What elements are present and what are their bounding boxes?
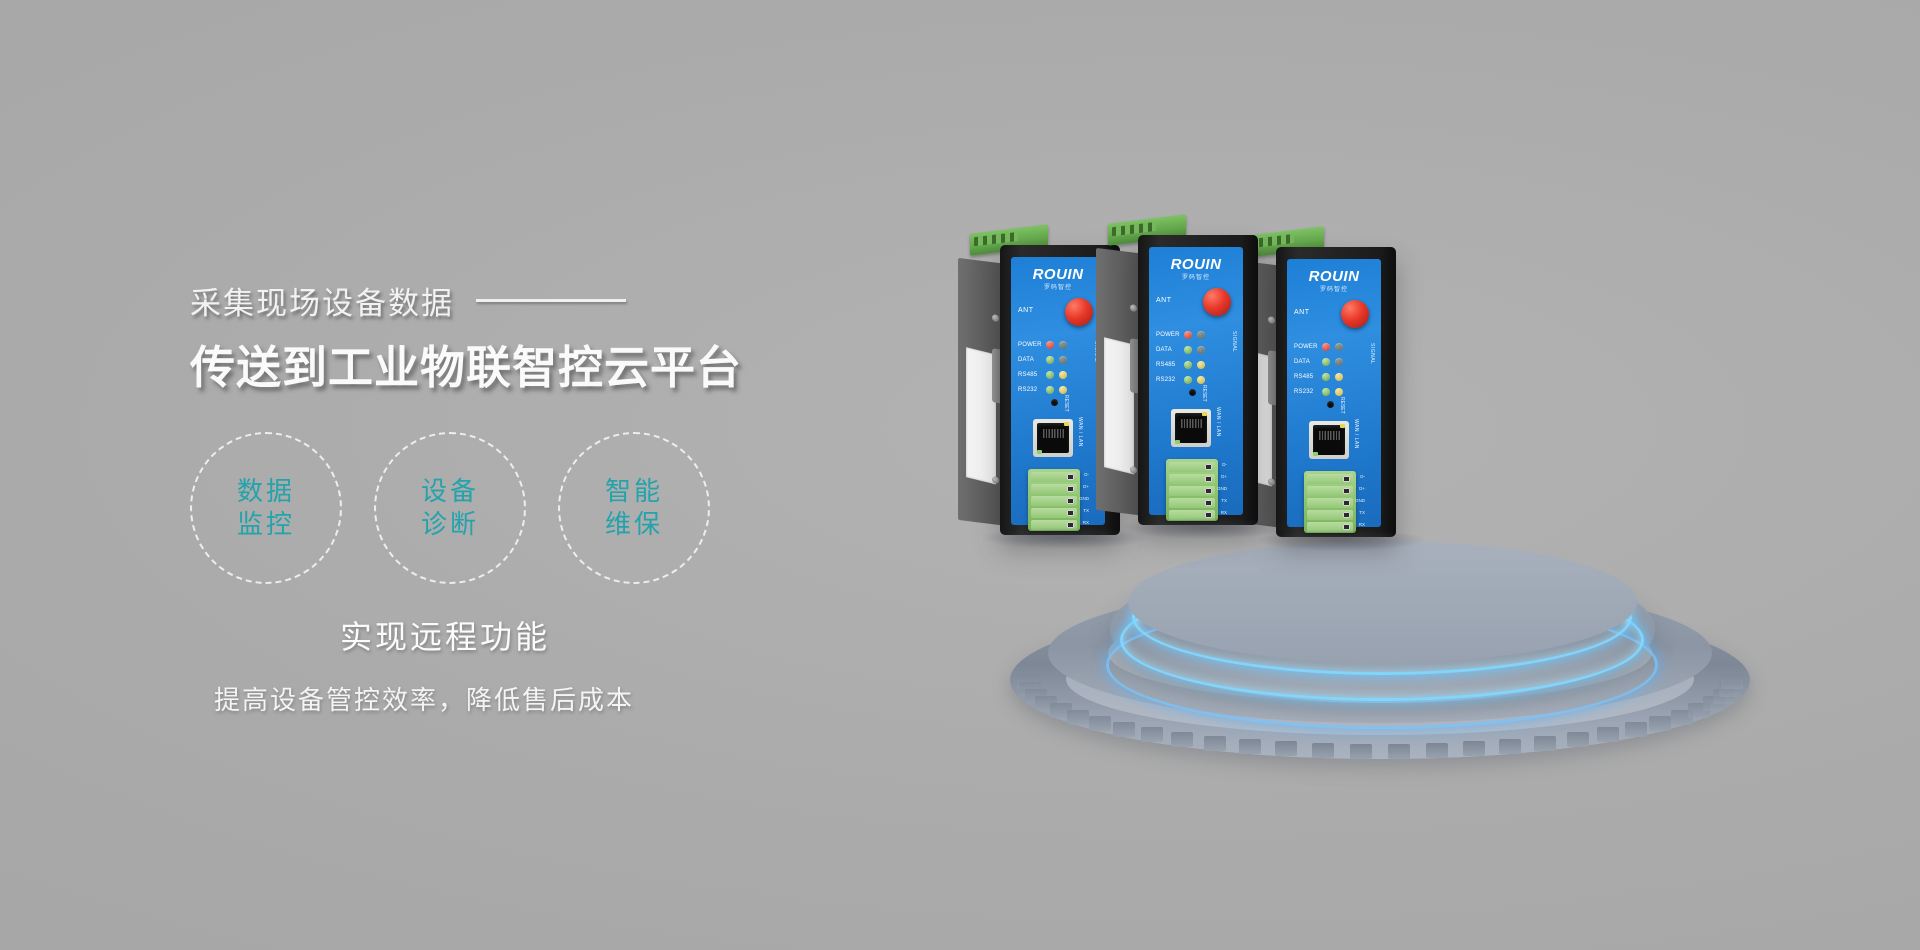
led-indicator: [1335, 343, 1343, 351]
feature-circle-data-monitoring[interactable]: 数据 监控: [190, 432, 342, 584]
brand-logo: ROUIN: [1287, 269, 1381, 284]
terminal-screw: [1343, 488, 1350, 494]
terminal-row: TX: [1031, 508, 1077, 518]
led-label: RS232: [1018, 387, 1041, 393]
led-row: RS232: [1018, 382, 1098, 397]
screw-terminal-block: D-D+GNDTXRX: [1304, 471, 1356, 533]
led-row: POWER: [1156, 327, 1236, 342]
led-row: RS485: [1018, 367, 1098, 382]
terminal-screw: [1067, 486, 1074, 492]
podium-gear-tooth: [1721, 674, 1743, 689]
podium-gear-tooth: [1534, 736, 1556, 751]
podium-gear-tooth: [1426, 743, 1448, 758]
led-row: POWER: [1018, 337, 1098, 352]
terminal-row: D+: [1031, 484, 1077, 494]
podium-gear-tooth: [1567, 732, 1589, 747]
led-label: DATA: [1294, 359, 1317, 365]
led-row: POWER: [1294, 339, 1374, 354]
lan-port-label: WAN / LAN: [1353, 419, 1359, 449]
led-row: DATA: [1294, 354, 1374, 369]
led-row: RS485: [1156, 357, 1236, 372]
podium-gear-tooth: [1089, 716, 1111, 731]
led-label: DATA: [1018, 357, 1041, 363]
terminal-row: D-: [1307, 474, 1353, 484]
podium-gear-tooth: [1171, 732, 1193, 747]
led-indicator: [1322, 388, 1330, 396]
podium-gear-tooth: [1312, 743, 1334, 758]
terminal-row: D-: [1169, 462, 1215, 472]
led-label: RS232: [1156, 377, 1179, 383]
terminal-row: TX: [1169, 498, 1215, 508]
podium-disc-top: [1128, 541, 1637, 663]
led-row: RS232: [1294, 384, 1374, 399]
subtitle-primary: 实现远程功能: [340, 612, 950, 658]
subtitle-secondary: 提高设备管控效率，降低售后成本: [214, 680, 950, 717]
led-indicator-group: POWERDATARS485RS232SIGNAL: [1156, 327, 1236, 387]
terminal-row: D-: [1031, 472, 1077, 482]
terminal-screw: [1343, 500, 1350, 506]
terminal-row: GND: [1031, 496, 1077, 506]
led-indicator: [1197, 376, 1205, 384]
gateway-device-3[interactable]: ROUIN罗码智控ANTPOWERDATARS485RS232SIGNALRES…: [1276, 247, 1396, 537]
podium-gear-tooth: [1597, 727, 1619, 742]
led-indicator-group: POWERDATARS485RS232SIGNAL: [1294, 339, 1374, 399]
device-screw: [1130, 304, 1137, 312]
reset-button[interactable]: [1051, 399, 1058, 406]
antenna-connector-cap[interactable]: [1341, 300, 1369, 328]
terminal-pin-label: GND: [1079, 496, 1089, 501]
lan-port-label: WAN / LAN: [1077, 417, 1083, 447]
terminal-row: D+: [1169, 474, 1215, 484]
led-label: POWER: [1294, 344, 1317, 350]
reset-button[interactable]: [1327, 401, 1334, 408]
brand-logo-cn: 罗码智控: [1287, 284, 1381, 293]
brand-logo: ROUIN: [1011, 267, 1105, 282]
terminal-pin-label: TX: [1083, 508, 1089, 513]
led-indicator: [1197, 361, 1205, 369]
terminal-pin-label: D+: [1359, 486, 1365, 491]
device-body: ROUIN罗码智控ANTPOWERDATARS485RS232SIGNALRES…: [1138, 235, 1258, 525]
feature-circle-device-diagnosis[interactable]: 设备 诊断: [374, 432, 526, 584]
device-front-panel: ROUIN罗码智控ANTPOWERDATARS485RS232SIGNALRES…: [1011, 257, 1105, 525]
screw-terminal-block: D-D+GNDTXRX: [1166, 459, 1218, 521]
antenna-port-label: ANT: [1156, 297, 1172, 304]
podium-gear-tooth: [1067, 710, 1089, 725]
led-indicator: [1184, 376, 1192, 384]
antenna-port-label: ANT: [1294, 309, 1310, 316]
led-indicator: [1322, 373, 1330, 381]
device-screw: [992, 314, 999, 322]
podium-gear-tooth: [1649, 716, 1671, 731]
antenna-port-label: ANT: [1018, 307, 1034, 314]
signal-strength-label: SIGNAL: [1231, 331, 1237, 352]
terminal-pin-label: D-: [1222, 462, 1227, 467]
terminal-screw: [1067, 510, 1074, 516]
product-podium: [1010, 555, 1750, 765]
led-row: DATA: [1018, 352, 1098, 367]
led-label: POWER: [1018, 342, 1041, 348]
rj45-link-led: [1037, 450, 1042, 454]
led-indicator-group: POWERDATARS485RS232SIGNAL: [1018, 337, 1098, 397]
podium-gear-tooth: [1499, 739, 1521, 754]
feature-circle-line2: 诊断: [421, 508, 479, 541]
reset-button[interactable]: [1189, 389, 1196, 396]
led-label: RS485: [1018, 372, 1041, 378]
led-indicator: [1059, 341, 1067, 349]
podium-gear-tooth: [1463, 741, 1485, 756]
feature-circle-line2: 监控: [237, 508, 295, 541]
screw-terminal-block: D-D+GNDTXRX: [1028, 469, 1080, 531]
copy-block: 采集现场设备数据 传送到工业物联智控云平台 数据 监控 设备 诊断 智能 维保 …: [190, 278, 950, 717]
led-label: POWER: [1156, 332, 1179, 338]
led-row: DATA: [1156, 342, 1236, 357]
rj45-activity-led: [1064, 422, 1069, 426]
led-indicator: [1322, 358, 1330, 366]
terminal-pin-label: GND: [1355, 498, 1365, 503]
led-label: DATA: [1156, 347, 1179, 353]
device-screw: [1130, 466, 1137, 474]
ethernet-rj45-port: [1171, 409, 1211, 447]
terminal-screw: [1205, 500, 1212, 506]
feature-circle-line1: 数据: [237, 475, 295, 508]
rj45-activity-led: [1202, 412, 1207, 416]
feature-circle-line1: 设备: [421, 475, 479, 508]
led-indicator: [1184, 361, 1192, 369]
terminal-row: GND: [1307, 498, 1353, 508]
led-indicator: [1335, 388, 1343, 396]
feature-circle-smart-maintenance[interactable]: 智能 维保: [558, 432, 710, 584]
terminal-pin-label: TX: [1359, 510, 1365, 515]
reset-label: RESET: [1339, 397, 1345, 414]
terminal-screw: [1205, 488, 1212, 494]
podium-gear-tooth: [1388, 744, 1410, 759]
device-body: ROUIN罗码智控ANTPOWERDATARS485RS232SIGNALRES…: [1276, 247, 1396, 537]
podium-gear-tooth: [1113, 722, 1135, 737]
rj45-link-led: [1313, 452, 1318, 456]
rj45-pins: [1043, 429, 1065, 438]
brand-logo-cn: 罗码智控: [1011, 282, 1105, 291]
device-screw: [1268, 478, 1275, 486]
terminal-row: D+: [1307, 486, 1353, 496]
led-indicator: [1335, 358, 1343, 366]
led-indicator: [1046, 371, 1054, 379]
brand-logo: ROUIN: [1149, 257, 1243, 272]
led-indicator: [1197, 346, 1205, 354]
led-indicator: [1335, 373, 1343, 381]
podium-gear-tooth: [1275, 741, 1297, 756]
lan-port-label: WAN / LAN: [1215, 407, 1221, 437]
ethernet-rj45-port: [1033, 419, 1073, 457]
led-indicator: [1184, 346, 1192, 354]
eyebrow-row: 采集现场设备数据: [190, 278, 950, 323]
antenna-connector-cap[interactable]: [1065, 298, 1093, 326]
rj45-pins: [1319, 431, 1341, 440]
terminal-screw: [1067, 498, 1074, 504]
terminal-pin-label: D+: [1083, 484, 1089, 489]
terminal-screw: [1067, 474, 1074, 480]
feature-circle-list: 数据 监控 设备 诊断 智能 维保: [190, 432, 950, 584]
led-indicator: [1046, 341, 1054, 349]
podium-gear-tooth: [1350, 744, 1372, 759]
led-indicator: [1059, 386, 1067, 394]
terminal-pin-label: GND: [1217, 486, 1227, 491]
podium-gear-tooth: [1141, 727, 1163, 742]
podium-gear-tooth: [1239, 739, 1261, 754]
ethernet-rj45-port: [1309, 421, 1349, 459]
podium-gear-tooth: [1625, 722, 1647, 737]
banner-canvas: 采集现场设备数据 传送到工业物联智控云平台 数据 监控 设备 诊断 智能 维保 …: [0, 0, 1920, 950]
eyebrow-text: 采集现场设备数据: [190, 278, 454, 323]
device-front-panel: ROUIN罗码智控ANTPOWERDATARS485RS232SIGNALRES…: [1287, 259, 1381, 527]
eyebrow-divider: [476, 299, 626, 302]
led-label: RS485: [1156, 362, 1179, 368]
terminal-pin-label: D+: [1221, 474, 1227, 479]
device-contact-shadow: [1256, 529, 1426, 551]
terminal-screw: [1343, 512, 1350, 518]
led-indicator: [1046, 356, 1054, 364]
terminal-pin-label: TX: [1221, 498, 1227, 503]
led-indicator: [1322, 343, 1330, 351]
feature-circle-line2: 维保: [605, 508, 663, 541]
device-screw: [992, 476, 999, 484]
led-row: RS485: [1294, 369, 1374, 384]
device-contact-shadow: [1118, 517, 1288, 539]
terminal-pin-label: D-: [1360, 474, 1365, 479]
rj45-cavity: [1313, 425, 1345, 455]
led-indicator: [1059, 371, 1067, 379]
led-indicator: [1184, 331, 1192, 339]
reset-label: RESET: [1063, 395, 1069, 412]
terminal-screw: [1343, 476, 1350, 482]
led-indicator: [1059, 356, 1067, 364]
feature-circle-line1: 智能: [605, 475, 663, 508]
rj45-cavity: [1037, 423, 1069, 453]
rj45-activity-led: [1340, 424, 1345, 428]
led-row: RS232: [1156, 372, 1236, 387]
rj45-pins: [1181, 419, 1203, 428]
terminal-screw: [1205, 464, 1212, 470]
device-front-panel: ROUIN罗码智控ANTPOWERDATARS485RS232SIGNALRES…: [1149, 247, 1243, 515]
terminal-pin-label: RX: [1083, 520, 1089, 525]
led-indicator: [1197, 331, 1205, 339]
reset-label: RESET: [1201, 385, 1207, 402]
terminal-row: TX: [1307, 510, 1353, 520]
led-label: RS485: [1294, 374, 1317, 380]
terminal-pin-label: RX: [1221, 510, 1227, 515]
terminal-pin-label: RX: [1359, 522, 1365, 527]
brand-logo-cn: 罗码智控: [1149, 272, 1243, 281]
page-title: 传送到工业物联智控云平台: [190, 331, 950, 396]
terminal-screw: [1205, 476, 1212, 482]
podium-gear-tooth: [1204, 736, 1226, 751]
signal-strength-label: SIGNAL: [1369, 343, 1375, 364]
rj45-link-led: [1175, 440, 1180, 444]
gateway-device-2[interactable]: ROUIN罗码智控ANTPOWERDATARS485RS232SIGNALRES…: [1138, 235, 1258, 525]
device-screw: [1268, 316, 1275, 324]
led-label: RS232: [1294, 389, 1317, 395]
terminal-row: GND: [1169, 486, 1215, 496]
terminal-pin-label: D-: [1084, 472, 1089, 477]
product-scene: ROUIN罗码智控ANTPOWERDATARS485RS232SIGNALRES…: [990, 235, 1790, 755]
led-indicator: [1046, 386, 1054, 394]
antenna-connector-cap[interactable]: [1203, 288, 1231, 316]
rj45-cavity: [1175, 413, 1207, 443]
